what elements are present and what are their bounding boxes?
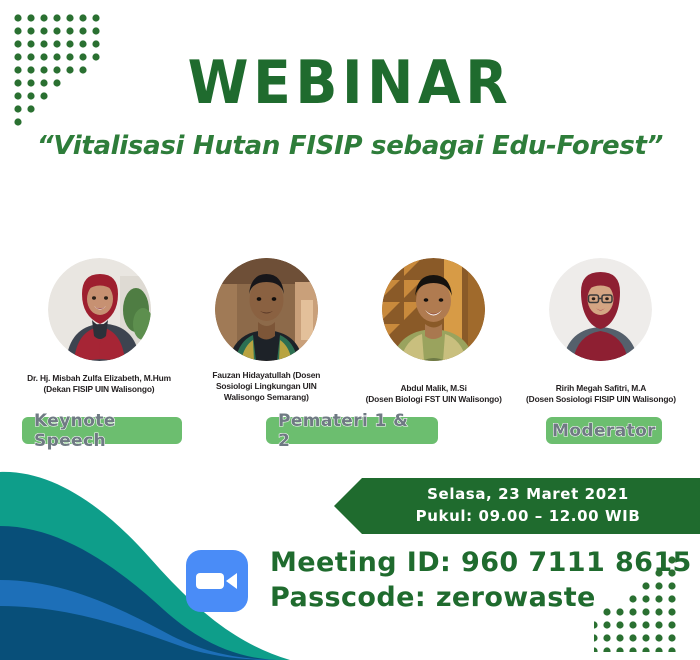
speaker-name: Abdul Malik, M.Si [400, 383, 466, 393]
photo-ririh-megah-safitri [549, 258, 652, 361]
webinar-poster: WEBINAR “Vitalisasi Hutan FISIP sebagai … [0, 0, 700, 660]
poster-header: WEBINAR “Vitalisasi Hutan FISIP sebagai … [0, 52, 700, 161]
speaker-name: Dr. Hj. Misbah Zulfa Elizabeth, M.Hum [27, 373, 171, 383]
dot-grid-bottom-right-icon [594, 556, 690, 652]
speaker-affiliation: (Dosen Biologi FST UIN Walisongo) [366, 394, 502, 404]
speaker-card: Fauzan Hidayatullah (Dosen Sosiologi Lin… [185, 258, 347, 405]
speaker-affiliation: (Dekan FISIP UIN Walisongo) [44, 384, 155, 394]
speaker-list: Dr. Hj. Misbah Zulfa Elizabeth, M.Hum (D… [0, 258, 700, 405]
role-badge-row: Keynote Speech Pemateri 1 & 2 Moderator [0, 417, 700, 447]
speaker-caption: Abdul Malik, M.Si (Dosen Biologi FST UIN… [366, 383, 502, 405]
poster-subtitle: “Vitalisasi Hutan FISIP sebagai Edu-Fore… [0, 131, 700, 161]
page-title: WEBINAR [28, 52, 672, 115]
status-badge-keynote: Keynote Speech [22, 417, 182, 444]
speaker-card: Dr. Hj. Misbah Zulfa Elizabeth, M.Hum (D… [18, 258, 180, 405]
photo-fauzan-hidayatullah [215, 258, 318, 361]
speaker-affiliation: Sosiologi Lingkungan UIN Walisongo Semar… [216, 381, 317, 402]
speaker-affiliation: (Dosen Sosiologi FISIP UIN Walisongo) [526, 394, 676, 404]
speaker-name: Fauzan Hidayatullah (Dosen [212, 370, 320, 380]
status-badge-pemateri: Pemateri 1 & 2 [266, 417, 438, 444]
avatar [382, 258, 485, 361]
avatar [48, 258, 151, 361]
status-badge-moderator: Moderator [546, 417, 662, 444]
speaker-card: Ririh Megah Safitri, M.A (Dosen Sosiolog… [520, 258, 682, 405]
schedule-time: Pukul: 09.00 – 12.00 WIB [416, 506, 641, 528]
speaker-name: Ririh Megah Safitri, M.A [556, 383, 646, 393]
speaker-caption: Fauzan Hidayatullah (Dosen Sosiologi Lin… [212, 370, 320, 403]
speaker-card: Abdul Malik, M.Si (Dosen Biologi FST UIN… [353, 258, 515, 405]
speaker-caption: Ririh Megah Safitri, M.A (Dosen Sosiolog… [526, 383, 676, 405]
avatar [215, 258, 318, 361]
photo-misbah-zulfa-elizabeth [48, 258, 151, 361]
avatar [549, 258, 652, 361]
photo-abdul-malik [382, 258, 485, 361]
schedule-date: Selasa, 23 Maret 2021 [427, 484, 629, 506]
zoom-video-camera-icon [186, 550, 248, 612]
schedule-banner: Selasa, 23 Maret 2021 Pukul: 09.00 – 12.… [334, 478, 700, 534]
speaker-caption: Dr. Hj. Misbah Zulfa Elizabeth, M.Hum (D… [27, 373, 171, 395]
